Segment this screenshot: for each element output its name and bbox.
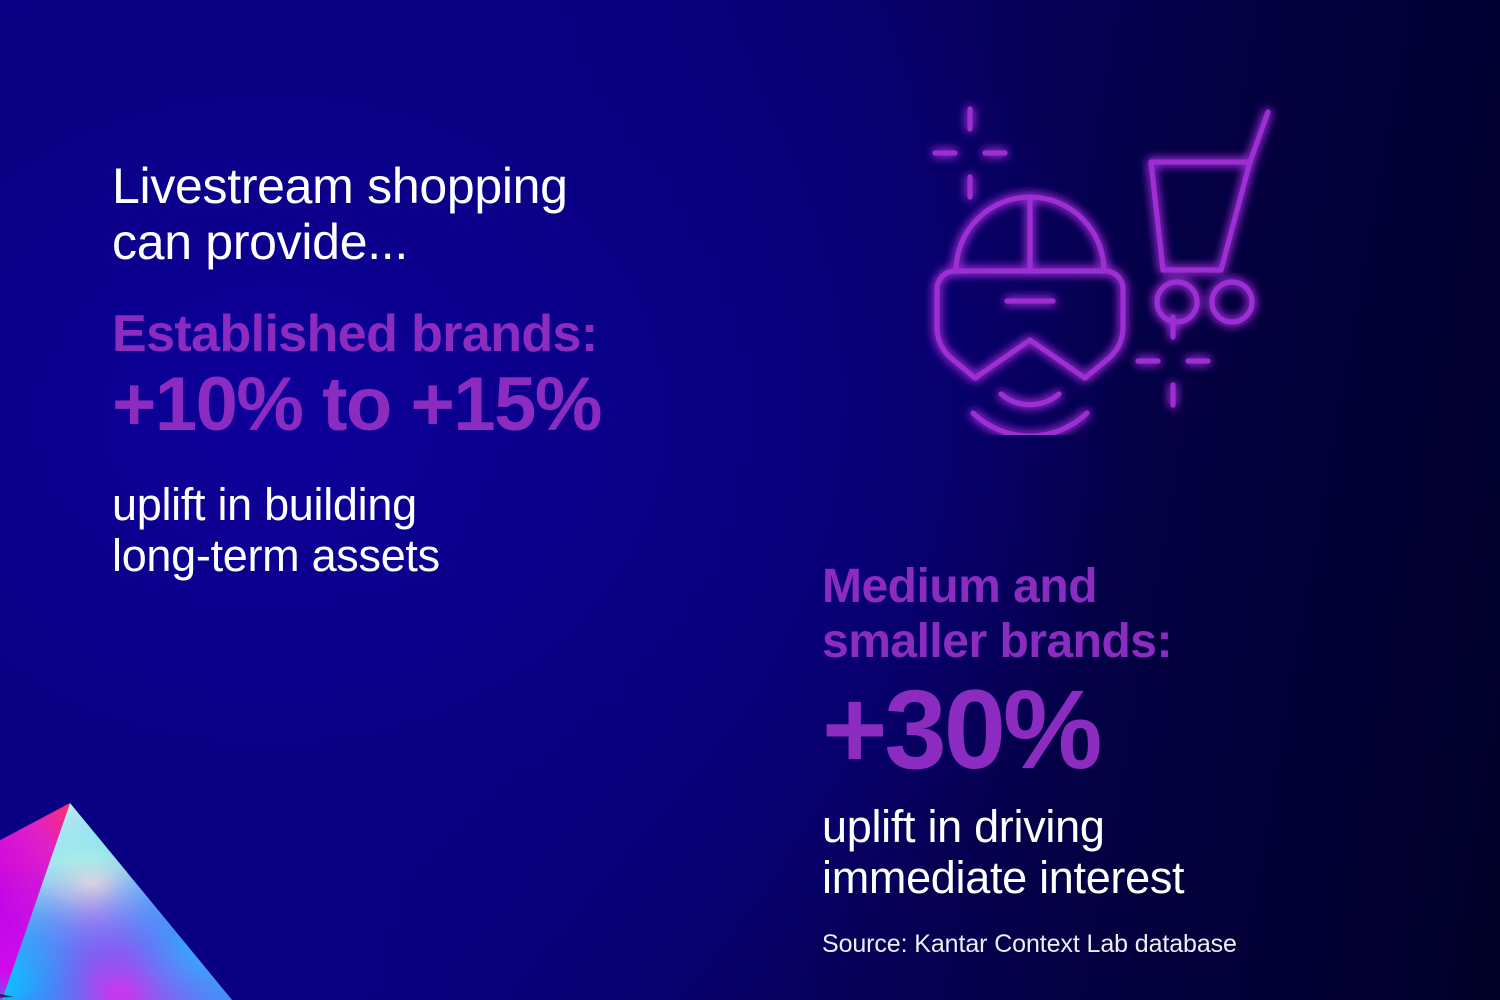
- icon-artwork-group: [925, 95, 1295, 435]
- source-attribution: Source: Kantar Context Lab database: [822, 930, 1442, 959]
- sparkle-icon: [935, 109, 1005, 197]
- smaller-brands-label: Medium and smaller brands:: [822, 560, 1442, 669]
- right-text-column: Medium and smaller brands: +30% uplift i…: [822, 560, 1442, 959]
- sparkle-icon: [1138, 317, 1208, 405]
- shopping-cart-icon: [1151, 112, 1268, 322]
- prism-decoration: [0, 785, 232, 1000]
- established-brands-value: +10% to +15%: [112, 367, 752, 443]
- infographic-canvas: Livestream shopping can provide... Estab…: [0, 0, 1500, 1000]
- established-brands-label: Established brands:: [112, 306, 752, 363]
- smaller-brands-caption: uplift in driving immediate interest: [822, 801, 1442, 904]
- headline: Livestream shopping can provide...: [112, 158, 752, 270]
- left-text-column: Livestream shopping can provide... Estab…: [112, 158, 752, 582]
- smaller-brands-value: +30%: [822, 675, 1442, 785]
- vr-headset-icon: [937, 197, 1123, 435]
- established-brands-caption: uplift in building long-term assets: [112, 479, 752, 582]
